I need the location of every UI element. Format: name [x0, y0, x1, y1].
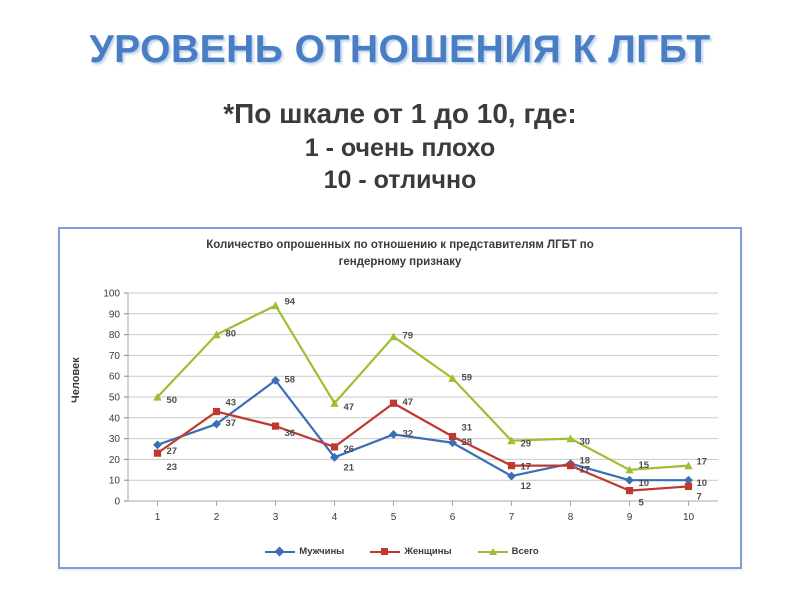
chart-title-line-1: Количество опрошенных по отношению к пре…: [88, 237, 712, 254]
y-axis-tick-label: 10: [109, 476, 121, 487]
legend-item-Всего[interactable]: Всего: [478, 546, 539, 557]
y-axis-tick-label: 60: [109, 372, 121, 383]
data-point-marker: [153, 440, 162, 449]
data-point-marker: [626, 487, 633, 494]
data-point-marker: [685, 483, 692, 490]
data-point-label: 17: [521, 462, 532, 473]
data-point-label: 80: [226, 329, 237, 340]
data-point-marker: [271, 301, 279, 309]
data-point-label: 31: [462, 423, 473, 434]
data-point-label: 50: [167, 395, 178, 406]
y-axis-tick-label: 0: [114, 497, 120, 508]
data-point-marker: [154, 450, 161, 457]
data-point-marker: [389, 332, 397, 340]
data-point-marker: [567, 462, 574, 469]
y-axis-tick-label: 70: [109, 351, 121, 362]
data-point-label: 26: [344, 444, 355, 455]
legend-item-Женщины[interactable]: Женщины: [370, 546, 451, 557]
x-axis-tick-label: 9: [627, 512, 633, 523]
data-point-marker: [331, 443, 338, 450]
x-axis-tick-label: 1: [155, 512, 161, 523]
data-point-marker: [389, 430, 398, 439]
data-point-label: 17: [580, 465, 591, 476]
chart-legend: МужчиныЖенщиныВсего: [60, 546, 744, 557]
y-axis-tick-label: 40: [109, 413, 121, 424]
x-axis-tick-label: 6: [450, 512, 456, 523]
data-point-label: 12: [521, 481, 532, 492]
y-axis-tick-label: 90: [109, 309, 121, 320]
y-axis-tick-label: 80: [109, 330, 121, 341]
data-point-label: 7: [697, 491, 702, 502]
data-point-label: 17: [697, 457, 708, 468]
data-point-label: 10: [697, 478, 708, 489]
subtitle-line-max: 10 - отлично: [0, 164, 800, 196]
subtitle-block: *По шкале от 1 до 10, где: 1 - очень пло…: [0, 96, 800, 196]
y-axis-tick-label: 20: [109, 455, 121, 466]
legend-swatch-icon: [478, 547, 508, 557]
legend-swatch-icon: [265, 547, 295, 557]
series-line: [158, 380, 689, 480]
data-point-marker: [449, 433, 456, 440]
data-point-marker: [272, 423, 279, 430]
data-point-label: 32: [403, 428, 414, 439]
legend-swatch-icon: [370, 547, 400, 557]
chart-title-line-2: гендерному признаку: [88, 254, 712, 271]
data-point-label: 43: [226, 398, 237, 409]
slide-root: УРОВЕНЬ ОТНОШЕНИЯ К ЛГБТ *По шкале от 1 …: [0, 0, 800, 599]
plot-area: Человек 01020304050607080901001234567891…: [60, 285, 744, 535]
x-axis-tick-label: 2: [214, 512, 220, 523]
data-point-label: 29: [521, 439, 532, 450]
data-point-label: 37: [226, 418, 237, 429]
data-point-marker: [507, 472, 516, 481]
data-point-marker: [213, 408, 220, 415]
y-axis-tick-label: 30: [109, 434, 121, 445]
data-point-label: 36: [285, 428, 296, 439]
data-point-label: 21: [344, 462, 355, 473]
legend-label: Мужчины: [299, 546, 344, 557]
x-axis-tick-label: 10: [683, 512, 695, 523]
legend-marker-icon: [489, 548, 497, 555]
data-point-marker: [390, 400, 397, 407]
y-axis-tick-label: 100: [103, 289, 120, 300]
x-axis-tick-label: 8: [568, 512, 574, 523]
data-point-marker: [508, 462, 515, 469]
data-point-label: 47: [344, 402, 355, 413]
subtitle-line-scale: *По шкале от 1 до 10, где:: [0, 96, 800, 132]
chart-title: Количество опрошенных по отношению к пре…: [88, 237, 712, 270]
data-point-label: 30: [580, 437, 591, 448]
legend-label: Женщины: [404, 546, 451, 557]
x-axis-tick-label: 4: [332, 512, 338, 523]
data-point-label: 58: [285, 374, 296, 385]
data-point-label: 94: [285, 296, 296, 307]
data-point-label: 23: [167, 462, 178, 473]
data-point-label: 15: [639, 460, 650, 471]
legend-label: Всего: [512, 546, 539, 557]
x-axis-tick-label: 3: [273, 512, 279, 523]
x-axis-tick-label: 7: [509, 512, 515, 523]
legend-marker-icon: [381, 548, 388, 555]
line-chart-svg: 0102030405060708090100123456789102737582…: [60, 285, 744, 535]
y-axis-tick-label: 50: [109, 393, 121, 404]
legend-item-Мужчины[interactable]: Мужчины: [265, 546, 344, 557]
chart-container: Количество опрошенных по отношению к пре…: [58, 227, 742, 569]
series-line: [158, 305, 689, 469]
data-point-label: 10: [639, 478, 650, 489]
data-point-label: 59: [462, 372, 473, 383]
data-point-label: 79: [403, 331, 414, 342]
data-point-marker: [625, 476, 634, 485]
data-point-label: 47: [403, 397, 414, 408]
series-line: [158, 403, 689, 490]
legend-marker-icon: [275, 547, 285, 557]
subtitle-line-min: 1 - очень плохо: [0, 132, 800, 164]
x-axis-tick-label: 5: [391, 512, 397, 523]
data-point-label: 27: [167, 446, 178, 457]
page-title: УРОВЕНЬ ОТНОШЕНИЯ К ЛГБТ: [0, 28, 800, 72]
data-point-label: 5: [639, 498, 645, 509]
